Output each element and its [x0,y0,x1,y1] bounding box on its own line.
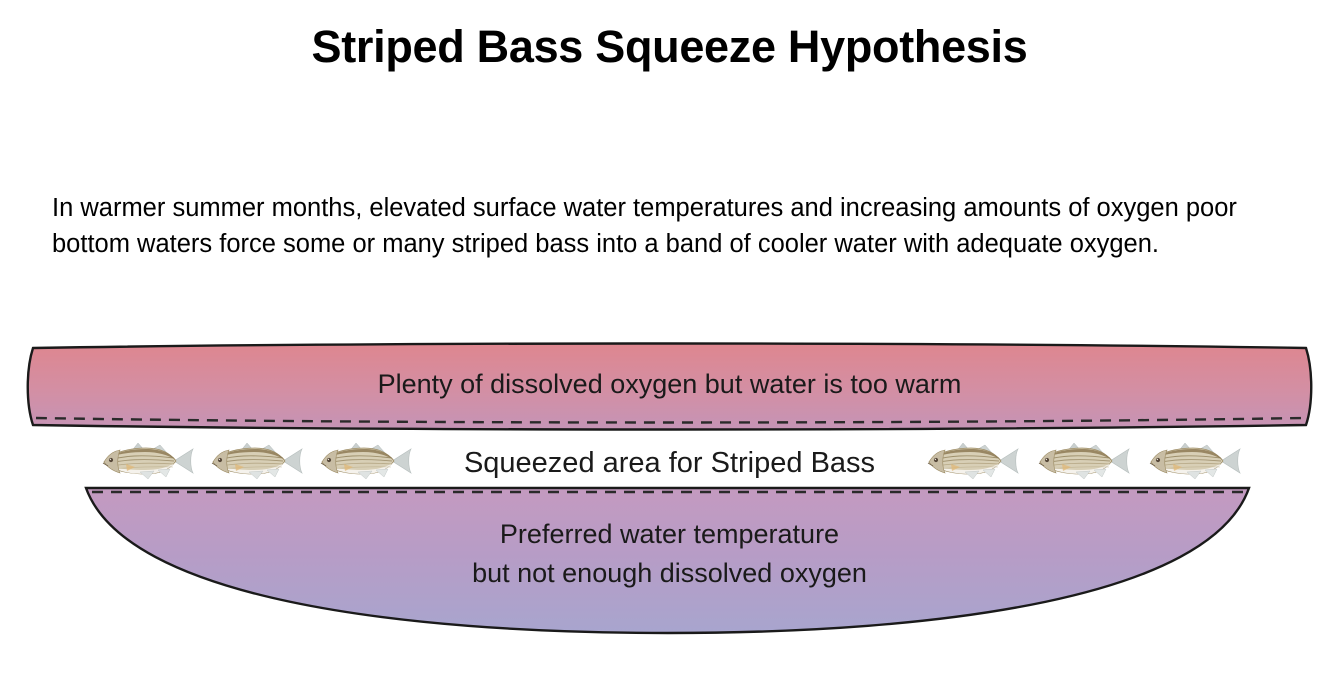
page-title: Striped Bass Squeeze Hypothesis [0,22,1339,72]
striped-bass-1 [100,440,196,482]
bottom-band-shape [86,488,1249,633]
striped-bass-3 [318,440,414,482]
striped-bass-6 [1147,440,1243,482]
striped-bass-2 [209,440,305,482]
striped-bass-squeeze-diagram: Plenty of dissolved oxygen but water is … [0,330,1339,660]
striped-bass-5 [1036,440,1132,482]
striped-bass-4 [925,440,1021,482]
slide-canvas: Striped Bass Squeeze Hypothesis In warme… [0,0,1339,692]
diagram-shapes [0,330,1339,660]
body-paragraph: In warmer summer months, elevated surfac… [52,190,1292,262]
top-band-shape [28,344,1312,430]
